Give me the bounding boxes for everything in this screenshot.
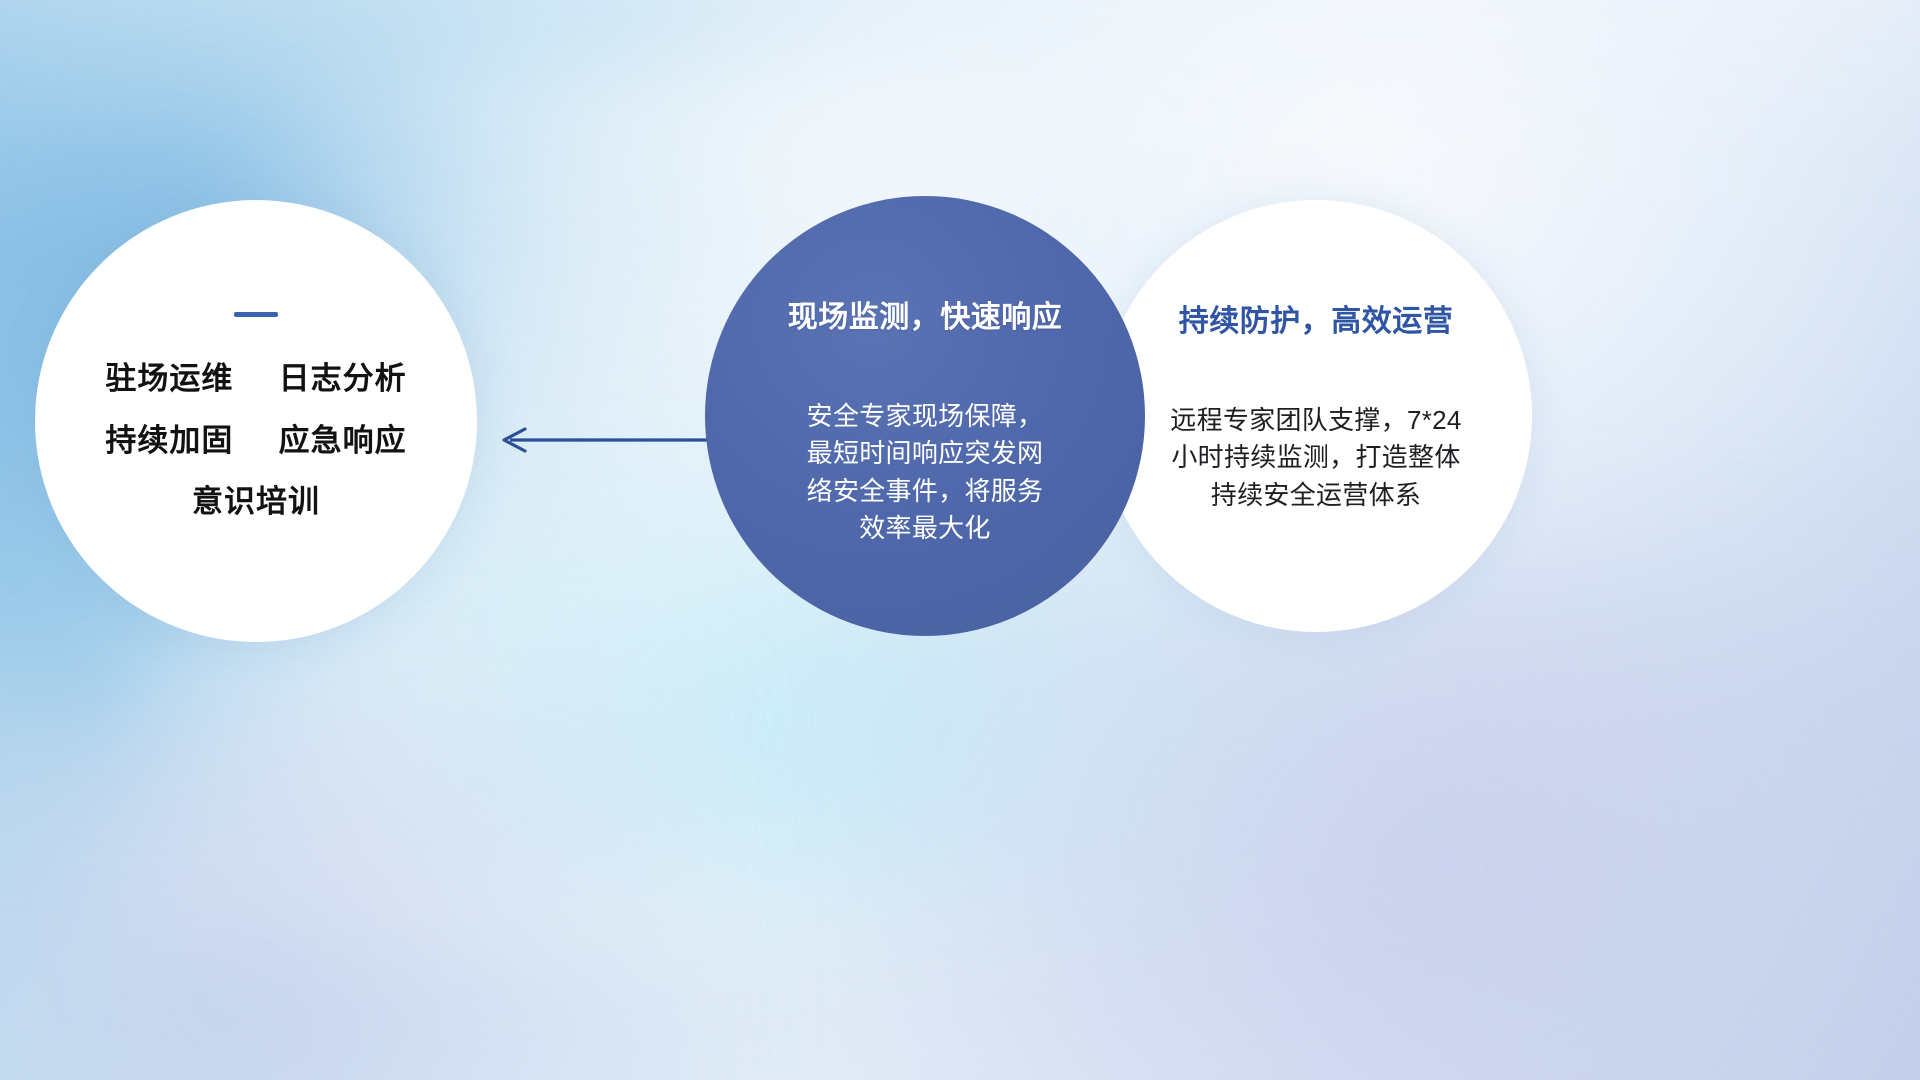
divider-dash-icon xyxy=(234,312,278,317)
body-line: 络安全事件，将服务 xyxy=(775,473,1075,510)
middle-circle-body: 安全专家现场保障， 最短时间响应突发网 络安全事件，将服务 效率最大化 xyxy=(775,398,1075,548)
body-line: 最短时间响应突发网 xyxy=(775,435,1075,472)
right-circle-heading: 持续防护，高效运营 xyxy=(1179,296,1454,340)
keyword-emergency-response: 应急响应 xyxy=(279,423,407,458)
keyword-awareness-training: 意识培训 xyxy=(192,484,320,519)
keyword-continuous-hardening: 持续加固 xyxy=(105,423,233,458)
middle-onsite-circle[interactable]: 现场监测，快速响应 安全专家现场保障， 最短时间响应突发网 络安全事件，将服务 … xyxy=(705,196,1145,636)
background-lavender-left-glow xyxy=(0,700,700,1080)
right-circle-body: 远程专家团队支撑，7*24 小时持续监测，打造整体 持续安全运营体系 xyxy=(1140,402,1492,514)
left-capability-circle[interactable]: 驻场运维 日志分析 持续加固 应急响应 意识培训 xyxy=(35,200,477,642)
body-line: 持续安全运营体系 xyxy=(1140,477,1492,514)
body-line: 远程专家团队支撑，7*24 xyxy=(1140,402,1492,439)
body-line: 效率最大化 xyxy=(775,510,1075,547)
keyword-row-3: 意识培训 xyxy=(192,486,320,519)
right-operations-circle[interactable]: 持续防护，高效运营 远程专家团队支撑，7*24 小时持续监测，打造整体 持续安全… xyxy=(1100,200,1532,632)
body-line: 小时持续监测，打造整体 xyxy=(1140,439,1492,476)
keyword-log-analysis: 日志分析 xyxy=(279,361,407,396)
middle-circle-heading: 现场监测，快速响应 xyxy=(788,292,1063,336)
keyword-row-2: 持续加固 应急响应 xyxy=(105,425,406,458)
background-lavender-glow xyxy=(840,560,1920,1080)
body-line: 安全专家现场保障， xyxy=(775,398,1075,435)
keyword-row-1: 驻场运维 日志分析 xyxy=(105,363,406,396)
keyword-driving-ops: 驻场运维 xyxy=(105,361,233,396)
slide-canvas: 驻场运维 日志分析 持续加固 应急响应 意识培训 现场监测，快速响应 安全专家现… xyxy=(0,0,1920,1080)
